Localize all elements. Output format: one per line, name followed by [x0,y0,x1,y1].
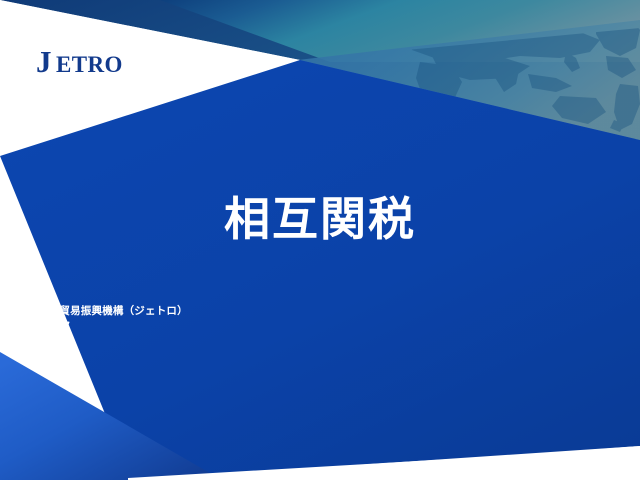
logo-initial-letter: J [36,44,52,79]
jetro-logo-mark: J ETRO [36,44,151,80]
byline-department: 調査部 [38,319,188,335]
logo-wordmark: ETRO [56,52,123,77]
title-slide: J ETRO 相互関税 日本貿易振興機構（ジェトロ） 調査部 [0,0,640,480]
slide-title: 相互関税 [0,192,640,246]
byline-organization: 日本貿易振興機構（ジェトロ） [38,303,188,319]
jetro-logo: J ETRO [36,44,146,78]
byline: 日本貿易振興機構（ジェトロ） 調査部 [38,303,188,335]
